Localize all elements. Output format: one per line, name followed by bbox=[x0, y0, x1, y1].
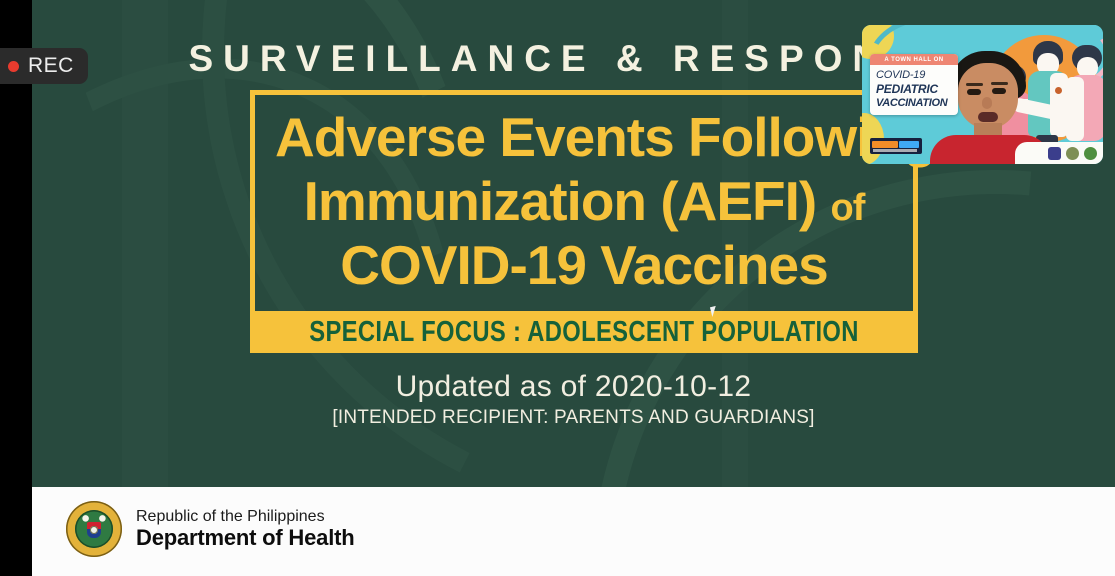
presenter-video-overlay[interactable]: A TOWN HALL ON COVID-19 PEDIATRIC VACCIN… bbox=[862, 25, 1103, 164]
slide-subtitle-bar: SPECIAL FOCUS : ADOLESCENT POPULATION bbox=[250, 311, 918, 353]
broadcast-logo-icon bbox=[870, 138, 922, 154]
slide-recipient-label: [INTENDED RECIPIENT: PARENTS AND GUARDIA… bbox=[32, 407, 1115, 429]
town-hall-card-header: A TOWN HALL ON bbox=[870, 54, 958, 65]
presenter-mouth bbox=[978, 112, 998, 122]
seal-birds-detail bbox=[80, 513, 108, 522]
letterbox-left-bar bbox=[0, 0, 32, 576]
presenter-eyebrow-left bbox=[966, 83, 983, 86]
town-hall-card-body: COVID-19 PEDIATRIC VACCINATION bbox=[870, 65, 958, 115]
slide-title-line-2-main: Immunization (AEFI) bbox=[304, 170, 817, 232]
slide-updated-label: Updated as of 2020-10-12 bbox=[32, 370, 1115, 404]
footer-org-line-2: Department of Health bbox=[136, 526, 354, 551]
town-hall-card-line-3: VACCINATION bbox=[876, 97, 952, 109]
illustration-third-figure bbox=[1068, 45, 1103, 153]
town-hall-card-line-1: COVID-19 bbox=[876, 69, 952, 81]
seal-shield-detail bbox=[87, 522, 101, 538]
footer-brand-text: Republic of the Philippines Department o… bbox=[136, 508, 354, 551]
slide-title-line-2-suffix: of bbox=[831, 187, 865, 229]
recording-badge-label: REC bbox=[28, 54, 74, 78]
recording-badge[interactable]: REC bbox=[0, 48, 88, 84]
slide-updated-block: Updated as of 2020-10-12 [INTENDED RECIP… bbox=[32, 370, 1115, 429]
footer-brand: Republic of the Philippines Department o… bbox=[66, 501, 354, 557]
logo-part-orange bbox=[872, 141, 898, 148]
slide-title-box: Adverse Events Following Immunization (A… bbox=[250, 90, 918, 353]
slide-footer: Republic of the Philippines Department o… bbox=[32, 487, 1115, 576]
screen-capture-stage: SURVEILLANCE & RESPONSE Adverse Events F… bbox=[0, 0, 1115, 576]
figure-badge bbox=[1055, 87, 1062, 94]
slide-title-lines: Adverse Events Following Immunization (A… bbox=[255, 95, 913, 303]
town-hall-card-line-2: PEDIATRIC bbox=[876, 82, 952, 96]
footer-org-line-1: Republic of the Philippines bbox=[136, 508, 354, 526]
slide-title-line-3: COVID-19 Vaccines bbox=[275, 237, 893, 293]
town-hall-card: A TOWN HALL ON COVID-19 PEDIATRIC VACCIN… bbox=[870, 54, 958, 115]
logo-part-blue bbox=[899, 141, 919, 148]
presenter-eyebrow-right bbox=[991, 82, 1008, 85]
chip-icon-two bbox=[1066, 147, 1079, 160]
chip-icon-one bbox=[1048, 147, 1061, 160]
logo-part-caption bbox=[873, 149, 917, 152]
slide-title-line-1: Adverse Events Following bbox=[275, 109, 893, 165]
presenter-eye-right bbox=[992, 88, 1006, 94]
chip-icon-three bbox=[1084, 147, 1097, 160]
presenter-nose bbox=[982, 97, 992, 109]
slide-title-line-2: Immunization (AEFI) of bbox=[275, 173, 893, 229]
slide-subtitle-bar-text: SPECIAL FOCUS : ADOLESCENT POPULATION bbox=[309, 316, 858, 349]
presenter-eye-left bbox=[967, 89, 981, 95]
record-dot-icon bbox=[8, 61, 19, 72]
doh-seal-icon bbox=[66, 501, 122, 557]
video-chip-icons bbox=[1048, 147, 1097, 160]
